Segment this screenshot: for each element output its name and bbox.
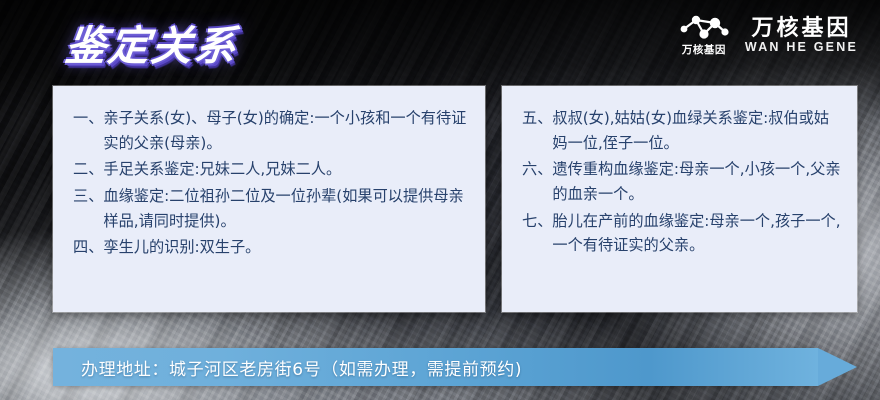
- brand-logo: 万核基因 万核基因 WAN HE GENE: [677, 14, 858, 56]
- content-panels: 一、 亲子关系(女)、母子(女)的确定:一个小孩和一个有待证实的父亲(母亲)。 …: [0, 86, 880, 312]
- list-item: 一、 亲子关系(女)、母子(女)的确定:一个小孩和一个有待证实的父亲(母亲)。: [73, 106, 471, 155]
- page-title: 鉴定关系: [62, 12, 241, 72]
- list-item-number: 四、: [73, 235, 103, 260]
- logo-mark: 万核基因: [677, 14, 731, 56]
- brand-name-en: WAN HE GENE: [745, 41, 858, 54]
- molecule-nodes-icon: [677, 14, 731, 44]
- list-item: 三、 血缘鉴定:二位祖孙二位及一位孙辈(如果可以提供母亲样品,请同时提供)。: [73, 184, 471, 233]
- relationship-list-right: 五、 叔叔(女),姑姑(女)血绿关系鉴定:叔伯或姑妈一位,侄子一位。 六、 遗传…: [522, 106, 843, 258]
- list-item: 四、 孪生儿的识别:双生子。: [73, 235, 471, 260]
- address-ribbon: 办理地址：城子河区老房街6号（如需办理，需提前预约): [53, 348, 857, 386]
- list-item-number: 三、: [73, 184, 103, 209]
- list-item: 二、 手足关系鉴定:兄妹二人,兄妹二人。: [73, 157, 471, 182]
- list-item-text: 孪生儿的识别:双生子。: [103, 235, 471, 260]
- list-item: 五、 叔叔(女),姑姑(女)血绿关系鉴定:叔伯或姑妈一位,侄子一位。: [522, 106, 843, 155]
- list-item-number: 六、: [522, 157, 552, 182]
- list-item-number: 二、: [73, 157, 103, 182]
- logo-mark-label: 万核基因: [682, 45, 726, 56]
- relationship-list-left: 一、 亲子关系(女)、母子(女)的确定:一个小孩和一个有待证实的父亲(母亲)。 …: [73, 106, 471, 260]
- list-item-number: 七、: [522, 209, 552, 234]
- address-banner-text: 办理地址：城子河区老房街6号（如需办理，需提前预约): [81, 348, 522, 386]
- list-item-text: 遗传重构血缘鉴定:母亲一个,小孩一个,父亲的血亲一个。: [552, 157, 843, 206]
- list-item: 七、 胎儿在产前的血缘鉴定:母亲一个,孩子一个,一个有待证实的父亲。: [522, 209, 843, 258]
- list-item-text: 亲子关系(女)、母子(女)的确定:一个小孩和一个有待证实的父亲(母亲)。: [103, 106, 471, 155]
- list-item-text: 胎儿在产前的血缘鉴定:母亲一个,孩子一个,一个有待证实的父亲。: [552, 209, 843, 258]
- brand-name-cn: 万核基因: [751, 16, 851, 39]
- slide-header: 鉴定关系: [0, 0, 880, 86]
- list-item: 六、 遗传重构血缘鉴定:母亲一个,小孩一个,父亲的血亲一个。: [522, 157, 843, 206]
- ribbon-arrow-tip: [818, 348, 857, 386]
- panel-left: 一、 亲子关系(女)、母子(女)的确定:一个小孩和一个有待证实的父亲(母亲)。 …: [53, 86, 485, 312]
- list-item-number: 一、: [73, 106, 103, 131]
- list-item-text: 叔叔(女),姑姑(女)血绿关系鉴定:叔伯或姑妈一位,侄子一位。: [552, 106, 843, 155]
- panel-right: 五、 叔叔(女),姑姑(女)血绿关系鉴定:叔伯或姑妈一位,侄子一位。 六、 遗传…: [502, 86, 857, 312]
- list-item-text: 血缘鉴定:二位祖孙二位及一位孙辈(如果可以提供母亲样品,请同时提供)。: [103, 184, 471, 233]
- list-item-number: 五、: [522, 106, 552, 131]
- slide-canvas: 鉴定关系: [0, 0, 880, 400]
- brand-wordmark: 万核基因 WAN HE GENE: [745, 16, 858, 54]
- list-item-text: 手足关系鉴定:兄妹二人,兄妹二人。: [103, 157, 471, 182]
